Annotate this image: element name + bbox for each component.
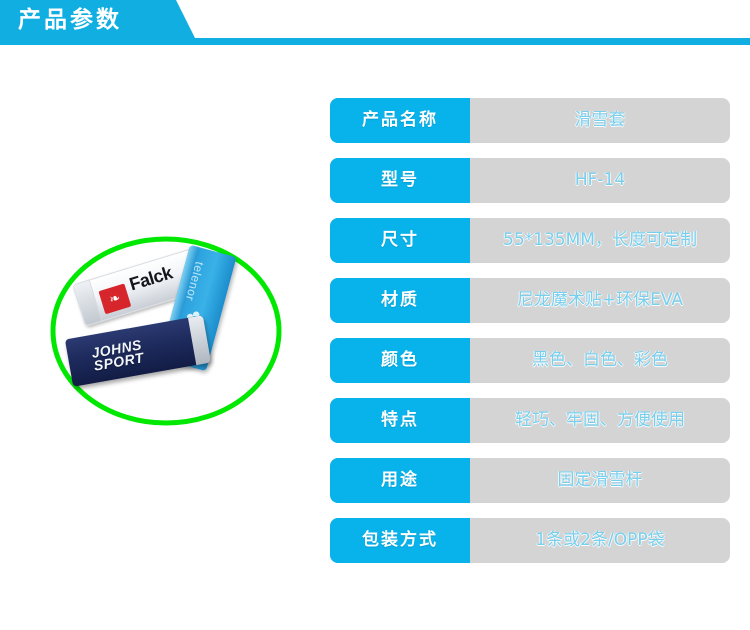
product-spec-table: 产品名称滑雪套型号HF-14尺寸55*135MM，长度可定制材质尼龙魔术贴+环保… (330, 98, 730, 578)
spec-label: 产品名称 (330, 98, 470, 143)
spec-label: 特点 (330, 398, 470, 443)
spec-row: 颜色黑色、白色、彩色 (330, 338, 730, 383)
spec-value: 1条或2条/OPP袋 (470, 518, 730, 563)
spec-label: 型号 (330, 158, 470, 203)
falck-logo-badge: ❧ (98, 283, 131, 314)
falck-leaf-icon: ❧ (105, 289, 124, 308)
spec-row: 产品名称滑雪套 (330, 98, 730, 143)
falck-brand-text: Falck (127, 263, 175, 296)
spec-label: 尺寸 (330, 218, 470, 263)
product-image: ❧ Falck telenor ✿ JOHNS SPORT (48, 235, 288, 435)
spec-label: 材质 (330, 278, 470, 323)
spec-value: 尼龙魔术贴+环保EVA (470, 278, 730, 323)
spec-row: 材质尼龙魔术贴+环保EVA (330, 278, 730, 323)
spec-value: 黑色、白色、彩色 (470, 338, 730, 383)
spec-label: 包装方式 (330, 518, 470, 563)
spec-value: 固定滑雪杆 (470, 458, 730, 503)
spec-row: 用途固定滑雪杆 (330, 458, 730, 503)
spec-value: 滑雪套 (470, 98, 730, 143)
spec-value: 轻巧、牢固、方便使用 (470, 398, 730, 443)
spec-value: HF-14 (470, 158, 730, 203)
spec-row: 特点轻巧、牢固、方便使用 (330, 398, 730, 443)
page-header-banner: 产品参数 (0, 0, 750, 45)
spec-label: 颜色 (330, 338, 470, 383)
spec-row: 包装方式1条或2条/OPP袋 (330, 518, 730, 563)
spec-row: 型号HF-14 (330, 158, 730, 203)
spec-row: 尺寸55*135MM，长度可定制 (330, 218, 730, 263)
page-title: 产品参数 (18, 3, 178, 37)
johns-sport-brand-text: JOHNS SPORT (91, 338, 145, 372)
spec-label: 用途 (330, 458, 470, 503)
spec-value: 55*135MM，长度可定制 (470, 218, 730, 263)
